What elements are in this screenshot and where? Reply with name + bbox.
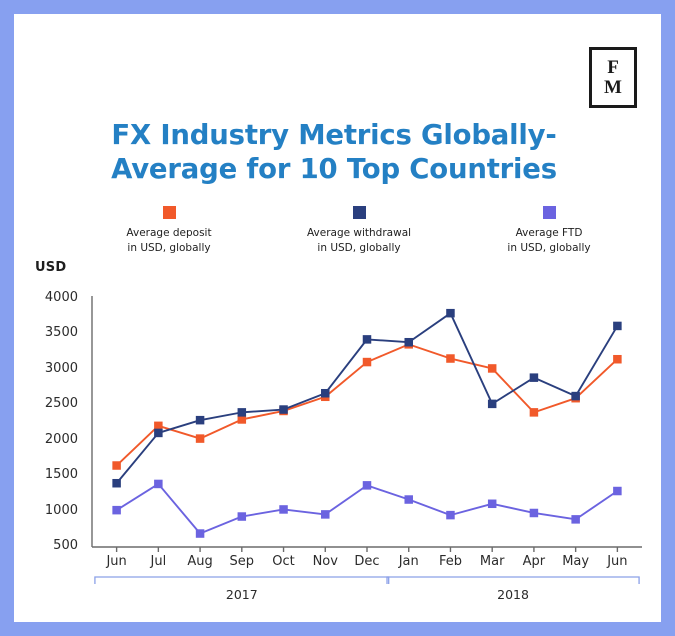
series-3 [112,480,621,538]
data-point-marker[interactable] [613,322,622,331]
series-2 [112,309,621,488]
x-axis-tick-label: Feb [439,554,462,569]
plot-svg [14,14,661,622]
year-bracket-2017 [95,577,389,584]
data-point-marker[interactable] [530,373,539,382]
data-point-marker[interactable] [154,429,163,438]
x-axis-tick-label: Apr [523,554,546,569]
x-axis-tick-label: Jun [106,554,126,569]
data-point-marker[interactable] [446,511,455,519]
x-axis-tick-label: Mar [480,554,505,569]
data-point-marker[interactable] [112,506,121,515]
line-chart: USD 4000350030002500200015001000500 JunJ… [14,14,661,622]
data-point-marker[interactable] [613,487,622,496]
data-point-marker[interactable] [446,354,455,363]
data-point-marker[interactable] [279,405,288,414]
data-point-marker[interactable] [321,389,330,398]
data-point-marker[interactable] [613,355,622,364]
data-point-marker[interactable] [530,509,539,518]
data-point-marker[interactable] [112,479,121,488]
x-axis-tick-label: Nov [313,554,338,569]
x-axis-tick-label: Jan [399,554,419,569]
data-point-marker[interactable] [196,529,205,538]
x-axis-tick-label: Jun [607,554,627,569]
chart-canvas: F M FX Industry Metrics Globally- Averag… [14,14,661,622]
x-axis-tick-label: Sep [230,554,255,569]
data-point-marker[interactable] [196,434,205,443]
data-point-marker[interactable] [154,480,163,489]
data-point-marker[interactable] [488,500,497,509]
x-axis-tick-label: Dec [354,554,379,569]
x-axis-tick-label: Aug [187,554,212,569]
data-point-marker[interactable] [321,510,330,519]
data-point-marker[interactable] [530,408,539,417]
chart-page: F M FX Industry Metrics Globally- Averag… [0,0,675,636]
data-point-marker[interactable] [363,358,372,367]
x-axis-tick-label: Jul [151,554,167,569]
data-point-marker[interactable] [404,338,413,347]
data-point-marker[interactable] [488,400,497,409]
data-point-marker[interactable] [363,481,372,490]
data-point-marker[interactable] [571,392,580,401]
x-axis-tick-label: May [562,554,589,569]
data-point-marker[interactable] [196,416,205,425]
x-axis-tick-label: Oct [272,554,294,569]
year-label-2018: 2018 [497,587,529,602]
data-point-marker[interactable] [488,364,497,373]
year-label-2017: 2017 [226,587,258,602]
data-point-marker[interactable] [363,335,372,344]
data-point-marker[interactable] [112,461,121,470]
data-point-marker[interactable] [446,309,455,318]
series-line [117,484,618,534]
data-point-marker[interactable] [238,408,247,417]
data-point-marker[interactable] [279,505,288,513]
data-point-marker[interactable] [404,495,413,504]
data-point-marker[interactable] [571,515,580,524]
series-1 [112,340,621,470]
data-point-marker[interactable] [238,512,247,521]
year-bracket-2018 [387,577,639,584]
